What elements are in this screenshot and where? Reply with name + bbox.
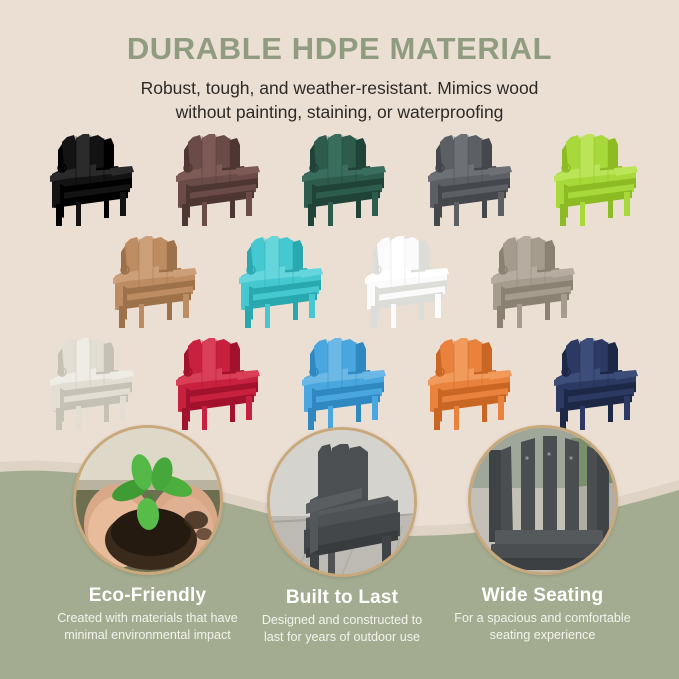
feature-description: Designed and constructed to last for yea…	[247, 612, 437, 645]
feature-eco-friendly: Eco-Friendly Created with materials that…	[45, 425, 250, 643]
hands-soil-seedling-icon	[76, 428, 223, 575]
feature-image-eco-friendly	[73, 425, 223, 575]
feature-desc-line-2: minimal environmental impact	[45, 627, 250, 644]
feature-wide-seating: Wide Seating For a spacious and comforta…	[440, 425, 645, 643]
infographic-canvas: DURABLE HDPE MATERIAL Robust, tough, and…	[0, 0, 679, 679]
feature-desc-line-1: Created with materials that have	[45, 610, 250, 627]
feature-desc-line-2: seating experience	[440, 627, 645, 644]
feature-desc-line-1: Designed and constructed to	[247, 612, 437, 629]
feature-title: Wide Seating	[440, 585, 645, 607]
feature-title: Built to Last	[247, 587, 437, 609]
chair-slatted-back-icon	[471, 428, 618, 575]
feature-desc-line-1: For a spacious and comfortable	[440, 610, 645, 627]
feature-description: For a spacious and comfortable seating e…	[440, 610, 645, 643]
feature-callouts: Eco-Friendly Created with materials that…	[0, 0, 679, 679]
feature-description: Created with materials that have minimal…	[45, 610, 250, 643]
feature-title: Eco-Friendly	[45, 585, 250, 607]
feature-image-wide-seating	[468, 425, 618, 575]
feature-built-to-last: Built to Last Designed and constructed t…	[247, 427, 437, 645]
gray-chair-patio-icon	[270, 430, 417, 577]
feature-desc-line-2: last for years of outdoor use	[247, 629, 437, 646]
feature-image-built-to-last	[267, 427, 417, 577]
